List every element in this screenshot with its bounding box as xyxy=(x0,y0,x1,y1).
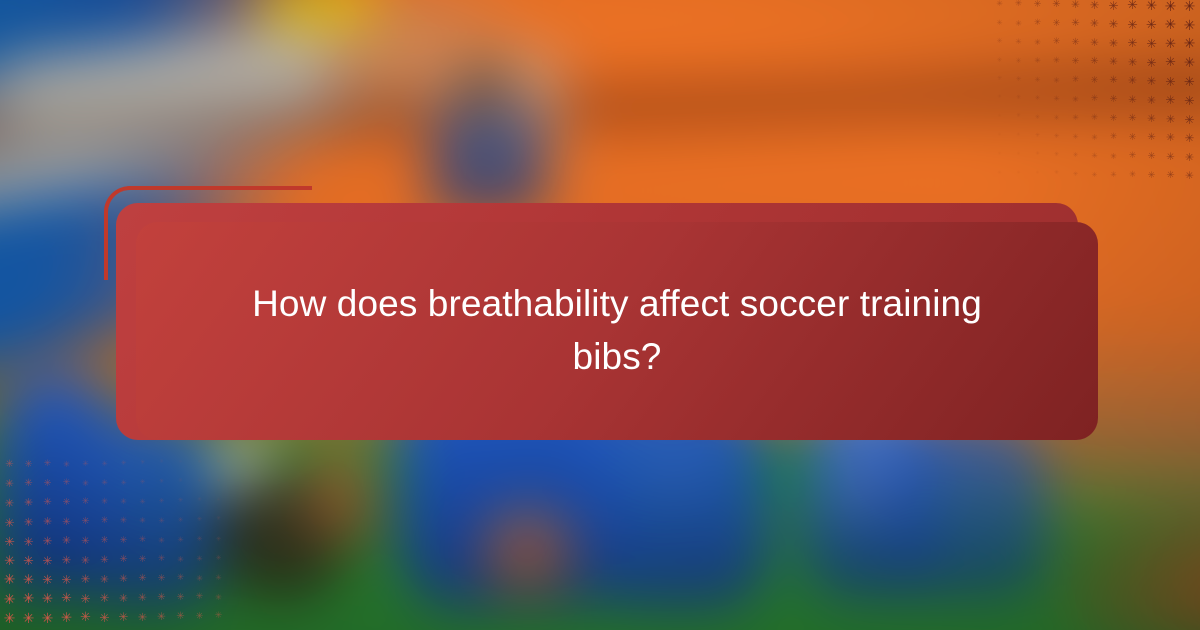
og-image-card: ✳✳✳✳✳✳✳✳✳✳✳✳✳✳✳✳✳✳✳✳✳✳✳✳✳✳✳✳✳✳✳✳✳✳✳✳✳✳✳✳… xyxy=(0,0,1200,630)
page-title: How does breathability affect soccer tra… xyxy=(217,278,1017,383)
question-card: How does breathability affect soccer tra… xyxy=(136,222,1098,440)
